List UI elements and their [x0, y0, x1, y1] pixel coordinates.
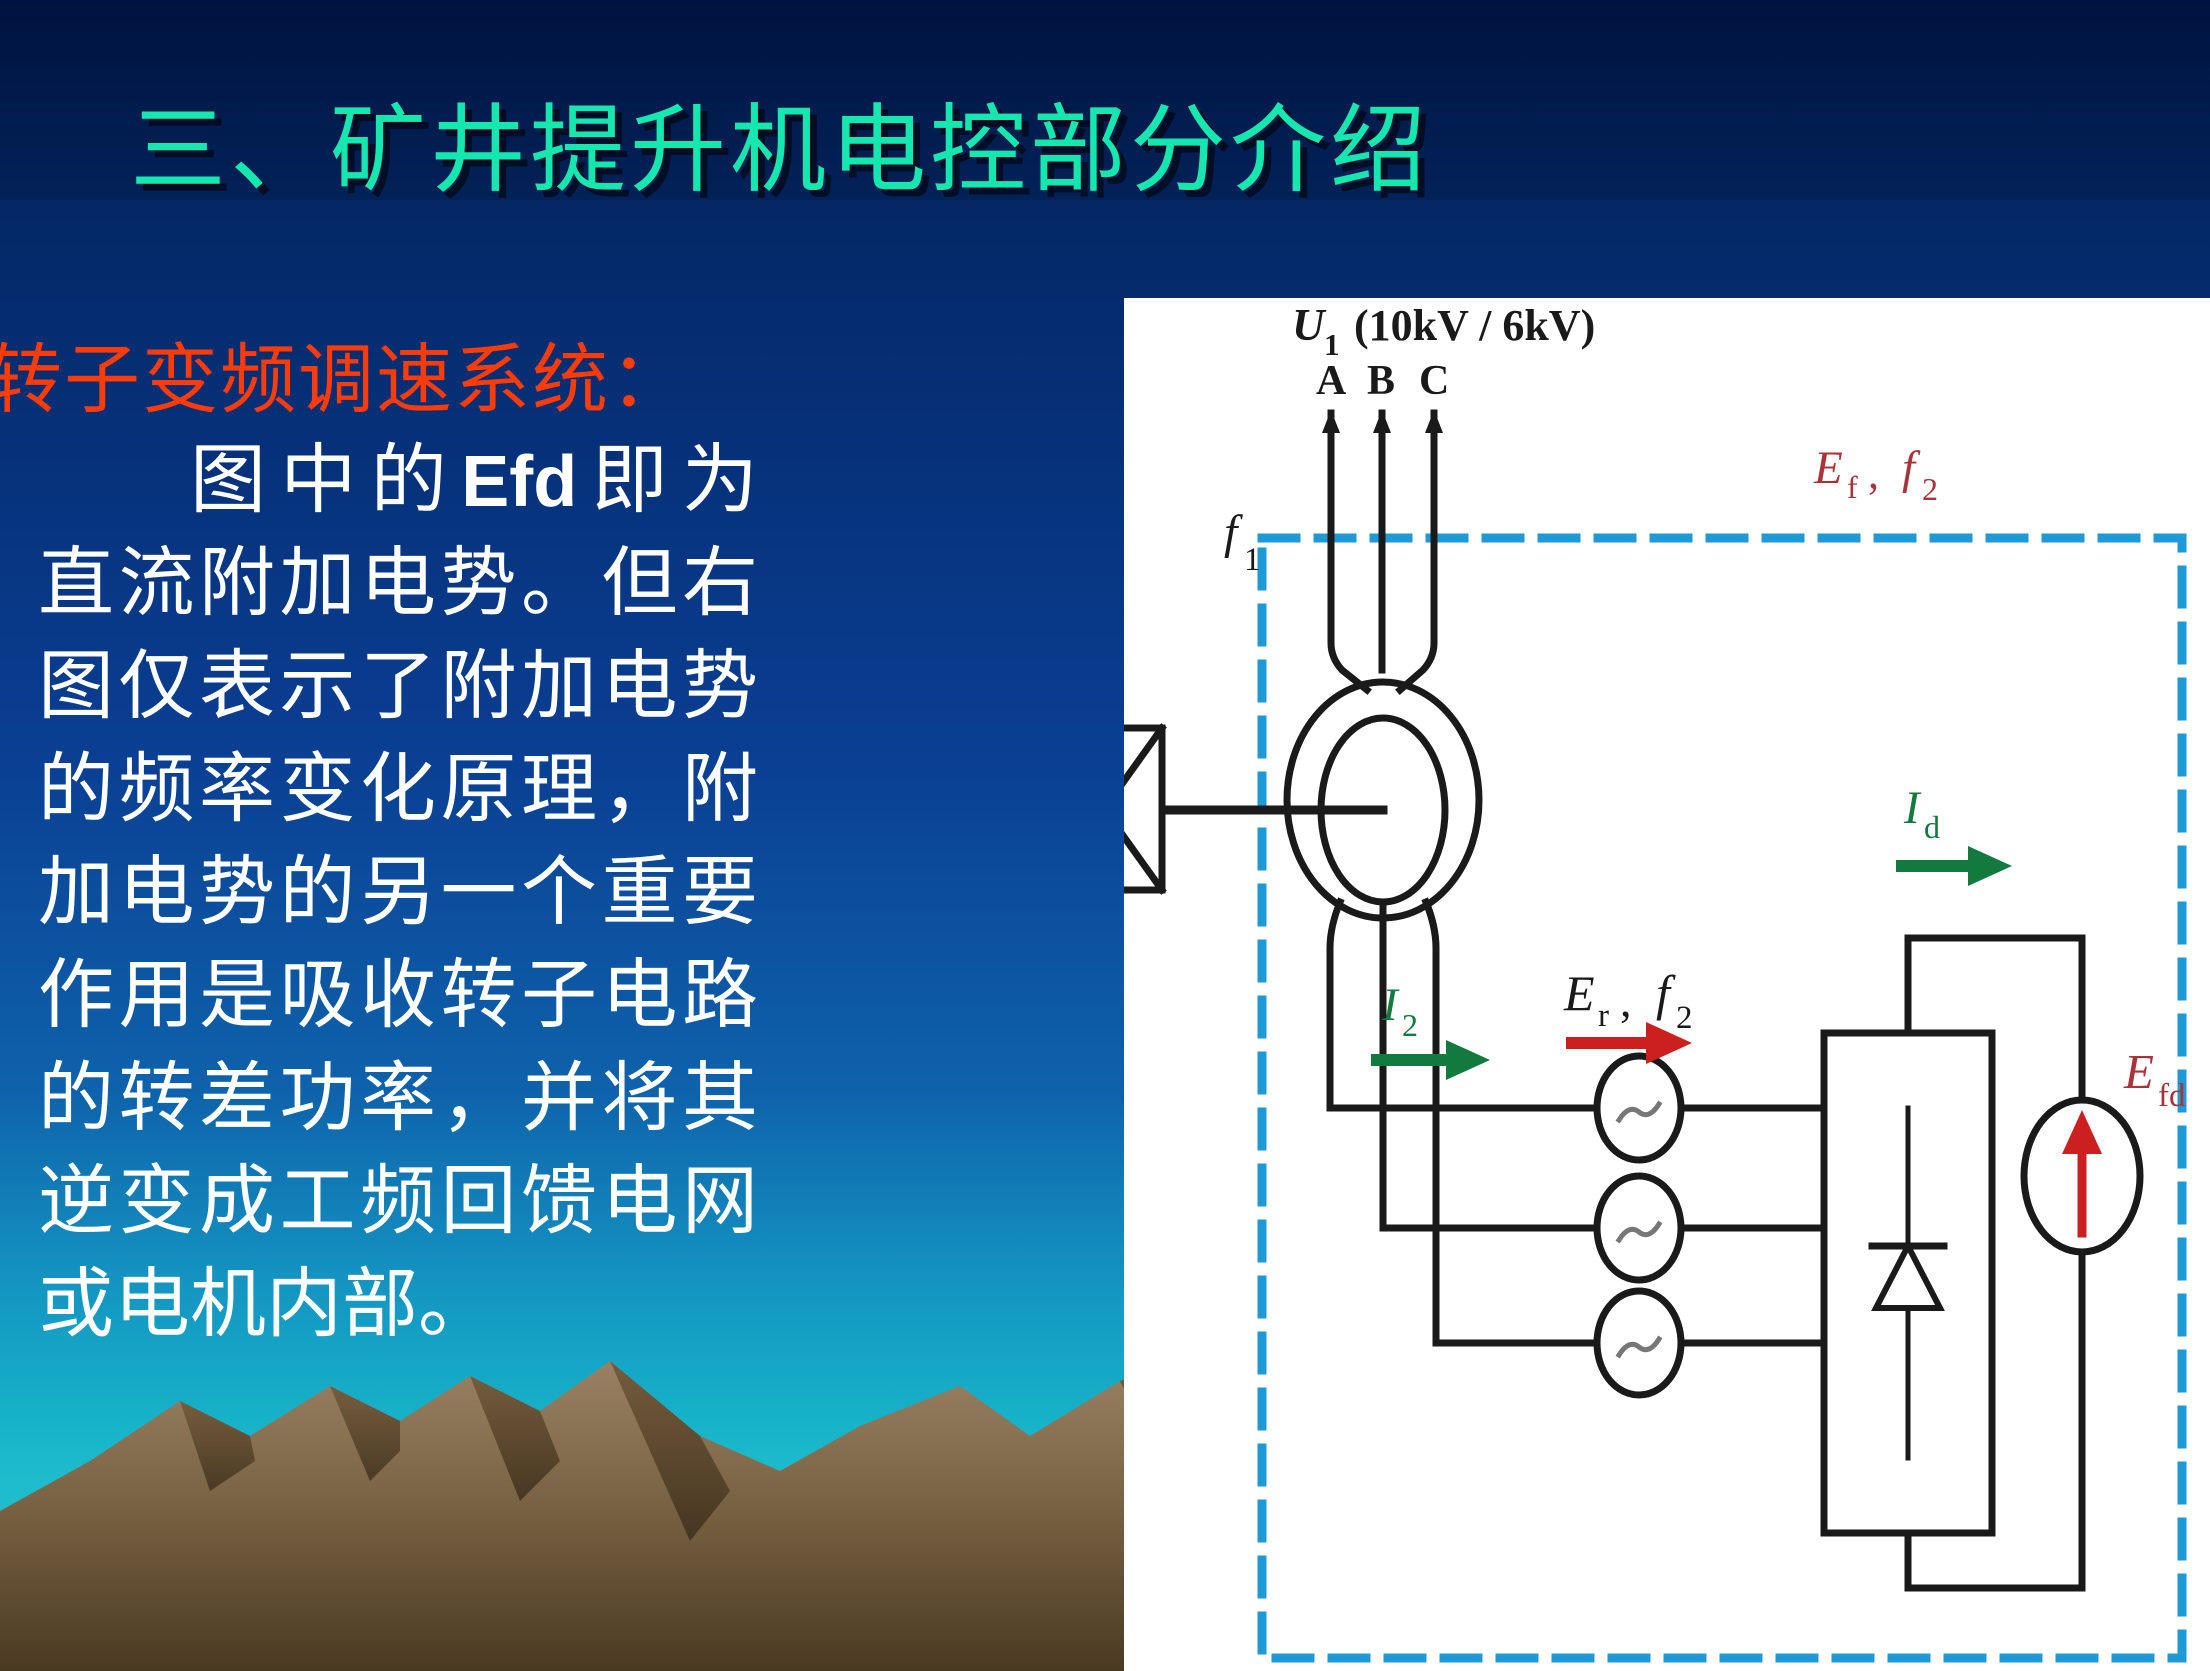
svg-text:,: , — [1620, 975, 1632, 1026]
supply-voltage-range: (10kV / 6kV) — [1354, 301, 1595, 350]
body-latin-term: Efd — [461, 442, 577, 522]
svg-text:I: I — [1381, 979, 1400, 1031]
svg-text:I: I — [1903, 782, 1922, 834]
supply-voltage-label: U — [1292, 300, 1327, 350]
body-paragraph: 图中的Efd即为直流附加电势。但右图仅表示了附加电势的频率变化原理，附加电势的另… — [38, 430, 758, 1357]
rotor-emf-label: E r , f 2 — [1563, 965, 1693, 1036]
svg-text:fd: fd — [2158, 1078, 2186, 1114]
circuit-diagram-panel: U 1 (10kV / 6kV) A B C f 1 E f , f 2 — [1124, 298, 2210, 1671]
dc-added-emf-label: E fd — [2123, 1044, 2186, 1114]
body-part-2: 即为直流附加电势。但右图仅表示了附加电势的频率变化原理，附加电势的另一个重要作用… — [38, 439, 758, 1347]
svg-text:,: , — [1868, 449, 1879, 498]
svg-text:2: 2 — [1676, 1000, 1693, 1036]
svg-text:f: f — [1902, 442, 1921, 494]
phase-c-label: C — [1419, 358, 1449, 404]
dashed-boundary-box — [1262, 538, 2182, 1658]
stator-frequency-label: f — [1224, 506, 1243, 559]
slip-ring-source-3 — [1597, 1291, 1681, 1395]
dc-current-arrow — [1902, 846, 2012, 886]
slip-ring-source-2 — [1597, 1176, 1681, 1280]
svg-text:E: E — [2123, 1044, 2154, 1099]
section-subtitle: 转子变频调速系统： — [0, 318, 688, 428]
slide-title: 三、矿井提升机电控部分介绍 — [0, 72, 1560, 211]
phase-a-label: A — [1316, 358, 1347, 404]
svg-text:f: f — [1656, 965, 1676, 1021]
dc-added-emf-source — [2024, 938, 2140, 1588]
rotor-current-label: I 2 — [1381, 979, 1418, 1043]
presentation-slide: 三、矿井提升机电控部分介绍 转子变频调速系统： 图中的Efd即为直流附加电势。但… — [0, 0, 2210, 1671]
added-emf-block-label: E f , f 2 — [1813, 442, 1938, 507]
phase-b-label: B — [1367, 358, 1395, 404]
svg-text:2: 2 — [1922, 471, 1938, 507]
dc-current-label: I d — [1903, 782, 1940, 845]
svg-text:f: f — [1847, 469, 1858, 505]
stator-frequency-sub: 1 — [1244, 542, 1261, 578]
svg-text:E: E — [1813, 442, 1843, 494]
svg-text:d: d — [1924, 809, 1940, 845]
rectifier-block — [1824, 1033, 1992, 1533]
body-part-1: 图中的 — [190, 439, 461, 523]
svg-text:E: E — [1563, 965, 1595, 1021]
mechanical-load-box — [1124, 728, 1162, 890]
svg-text:2: 2 — [1402, 1007, 1418, 1043]
svg-text:r: r — [1598, 998, 1609, 1034]
supply-voltage-sub: 1 — [1324, 327, 1340, 362]
slip-ring-source-1 — [1597, 1056, 1681, 1160]
